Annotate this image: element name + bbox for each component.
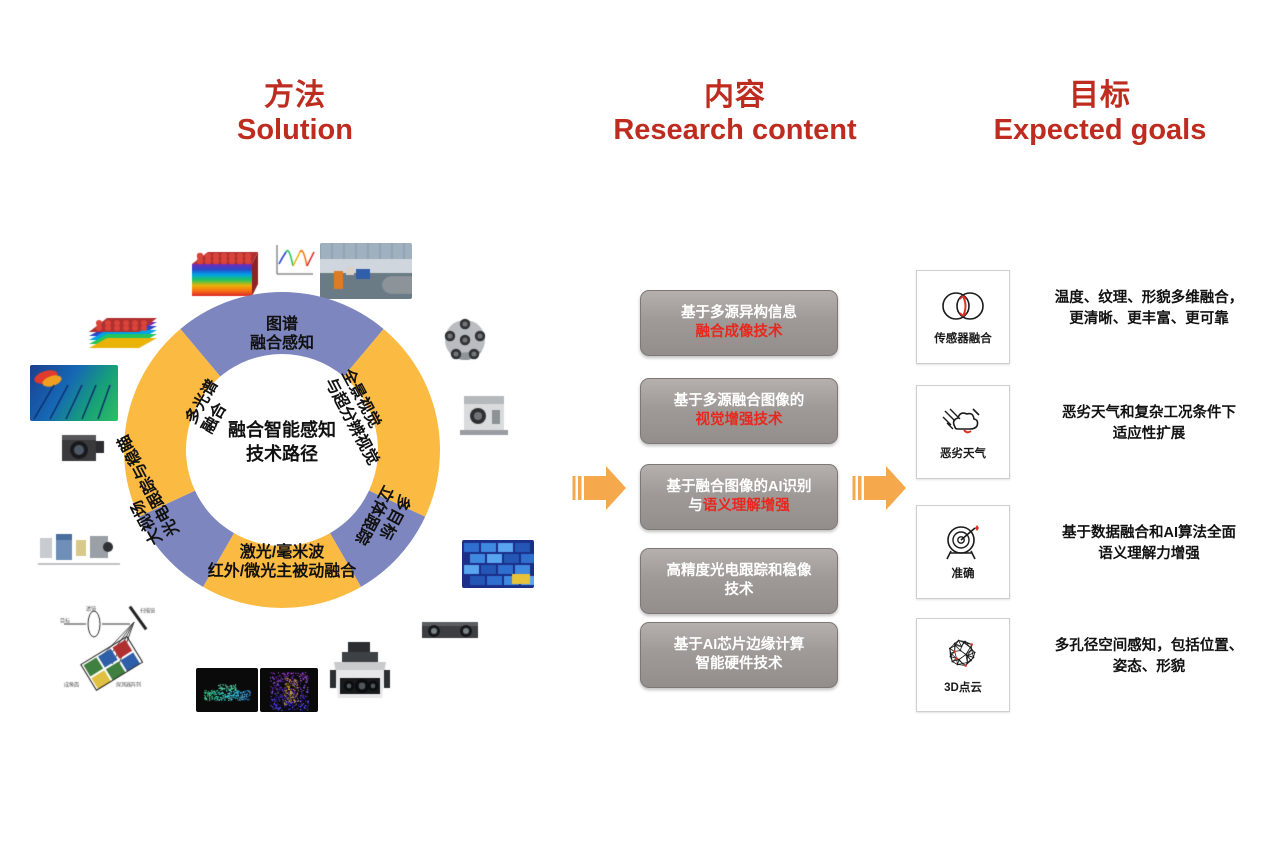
- content-box-tracking-line1: 高精度光电跟踪和稳像: [667, 562, 812, 581]
- goal-text-sensor-fusion-line1: 温度、纹理、形貌多维融合，: [1034, 288, 1264, 309]
- goal-text-bad-weather-line1: 恶劣天气和复杂工况条件下: [1034, 403, 1264, 424]
- goal-icon-box-bad-weather: 恶劣天气: [916, 385, 1010, 479]
- rain-cloud-icon: [937, 403, 989, 443]
- goal-text-bad-weather: 恶劣天气和复杂工况条件下 适应性扩展: [1034, 403, 1264, 445]
- wheel-segment-top-line2: 融合感知: [162, 334, 402, 353]
- thumbnail-spectral-curve-plot: [268, 240, 316, 284]
- goal-text-sensor-fusion: 温度、纹理、形貌多维融合， 更清晰、更丰富、更可靠: [1034, 288, 1264, 330]
- thumbnail-multi-lens-spherical-camera: [434, 312, 496, 368]
- diagram-canvas: 方法 Solution 内容 Research content 目标 Expec…: [0, 0, 1268, 866]
- goal-row-sensor-fusion: 传感器融合 温度、纹理、形貌多维融合， 更清晰、更丰富、更可靠: [916, 270, 1256, 366]
- goal-text-accuracy-line1: 基于数据融合和AI算法全面: [1034, 523, 1264, 544]
- content-box-visual-enhancement[interactable]: 基于多源融合图像的 视觉增强技术: [640, 378, 838, 444]
- content-box-ai-chip-line2: 智能硬件技术: [674, 655, 805, 674]
- goal-text-bad-weather-line2: 适应性扩展: [1034, 424, 1264, 445]
- arrow-content-to-goals: [852, 460, 910, 521]
- content-box-visual-enhancement-line1: 基于多源融合图像的: [674, 392, 805, 411]
- thumbnail-optical-measurement-instrument: [456, 388, 512, 438]
- target-dart-icon: [937, 523, 989, 563]
- content-box-ai-recognition-semantics[interactable]: 基于融合图像的AI识别 与语义理解增强: [640, 464, 838, 530]
- goal-icon-box-accuracy: 准确: [916, 505, 1010, 599]
- thumbnail-lidar-point-cloud-structure: [260, 668, 318, 712]
- content-box-tracking-line2: 技术: [667, 581, 812, 600]
- column-heading-solution-cn: 方法: [170, 78, 420, 113]
- thumbnail-optical-bench-setup: [36, 520, 122, 572]
- column-heading-goals: 目标 Expected goals: [955, 78, 1245, 148]
- content-box-high-precision-tracking[interactable]: 高精度光电跟踪和稳像 技术: [640, 548, 838, 614]
- goal-text-point-cloud-line1: 多孔径空间感知，包括位置、: [1034, 636, 1264, 657]
- goal-icon-caption-sensor-fusion: 传感器融合: [934, 330, 992, 346]
- goal-text-accuracy-line2: 语义理解力增强: [1034, 544, 1264, 565]
- column-heading-content: 内容 Research content: [590, 78, 880, 148]
- arrow-solution-to-content: [572, 460, 630, 521]
- thumbnail-gimbal-eo-ir-turret: [324, 640, 396, 712]
- thumbnail-lidar-point-cloud-ship: [196, 668, 258, 712]
- thumbnail-thermal-infrared-scene: [30, 365, 118, 421]
- wheel-center-line2: 技术路径: [182, 442, 382, 466]
- content-box-ai-recognition-line2a: 与: [688, 498, 703, 514]
- column-heading-content-cn: 内容: [590, 78, 880, 113]
- content-box-ai-chip-edge-computing[interactable]: 基于AI芯片边缘计算 智能硬件技术: [640, 622, 838, 688]
- wheel-segment-bottom-line2: 红外/微光主被动融合: [137, 562, 427, 581]
- thumbnail-ray-optics-schematic: [56, 600, 168, 692]
- content-box-ai-chip-line1: 基于AI芯片边缘计算: [674, 636, 805, 655]
- goal-row-bad-weather: 恶劣天气 恶劣天气和复杂工况条件下 适应性扩展: [916, 385, 1256, 481]
- goal-text-sensor-fusion-line2: 更清晰、更丰富、更可靠: [1034, 309, 1264, 330]
- thumbnail-depth-map-bricks: [462, 540, 534, 588]
- goal-icon-caption-accuracy: 准确: [952, 565, 975, 581]
- wheel-center-label: 融合智能感知 技术路径: [182, 418, 382, 467]
- goal-row-point-cloud-3d: 3D点云 多孔径空间感知，包括位置、 姿态、形貌: [916, 618, 1256, 714]
- goal-text-point-cloud-line2: 姿态、形貌: [1034, 657, 1264, 678]
- column-heading-content-en: Research content: [590, 113, 880, 147]
- wheel-segment-label-top: 图谱 融合感知: [162, 315, 402, 353]
- content-box-visual-enhancement-line2: 视觉增强技术: [674, 411, 805, 430]
- goal-row-accuracy: 准确 基于数据融合和AI算法全面 语义理解力增强: [916, 505, 1256, 601]
- goal-text-accuracy: 基于数据融合和AI算法全面 语义理解力增强: [1034, 523, 1264, 565]
- content-box-fusion-imaging-line1: 基于多源异构信息: [681, 304, 797, 323]
- content-box-ai-recognition-line2b: 语义理解增强: [703, 498, 790, 514]
- thumbnail-stereo-binocular-camera: [418, 612, 482, 648]
- goal-text-point-cloud-3d: 多孔径空间感知，包括位置、 姿态、形貌: [1034, 636, 1264, 678]
- goal-icon-box-point-cloud-3d: 3D点云: [916, 618, 1010, 712]
- column-heading-solution-en: Solution: [170, 113, 420, 147]
- goal-icon-caption-bad-weather: 恶劣天气: [940, 445, 986, 461]
- wheel-center-line1: 融合智能感知: [182, 418, 382, 442]
- goal-icon-box-sensor-fusion: 传感器融合: [916, 270, 1010, 364]
- column-heading-goals-en: Expected goals: [955, 113, 1245, 147]
- goal-icon-caption-point-cloud-3d: 3D点云: [944, 679, 982, 695]
- point-cloud-sphere-icon: [937, 635, 989, 677]
- column-heading-solution: 方法 Solution: [170, 78, 420, 148]
- content-box-fusion-imaging[interactable]: 基于多源异构信息 融合成像技术: [640, 290, 838, 356]
- content-box-ai-recognition-line1: 基于融合图像的AI识别: [667, 478, 812, 497]
- wheel-segment-top-line1: 图谱: [162, 315, 402, 334]
- column-heading-goals-cn: 目标: [955, 78, 1245, 113]
- fusion-perception-wheel: 图谱 融合感知 激光/毫米波 红外/微光主被动融合 全景视觉 与超分辨视觉 多光…: [122, 290, 442, 610]
- venn-circles-icon: [937, 288, 989, 328]
- content-box-fusion-imaging-line2: 融合成像技术: [681, 323, 797, 342]
